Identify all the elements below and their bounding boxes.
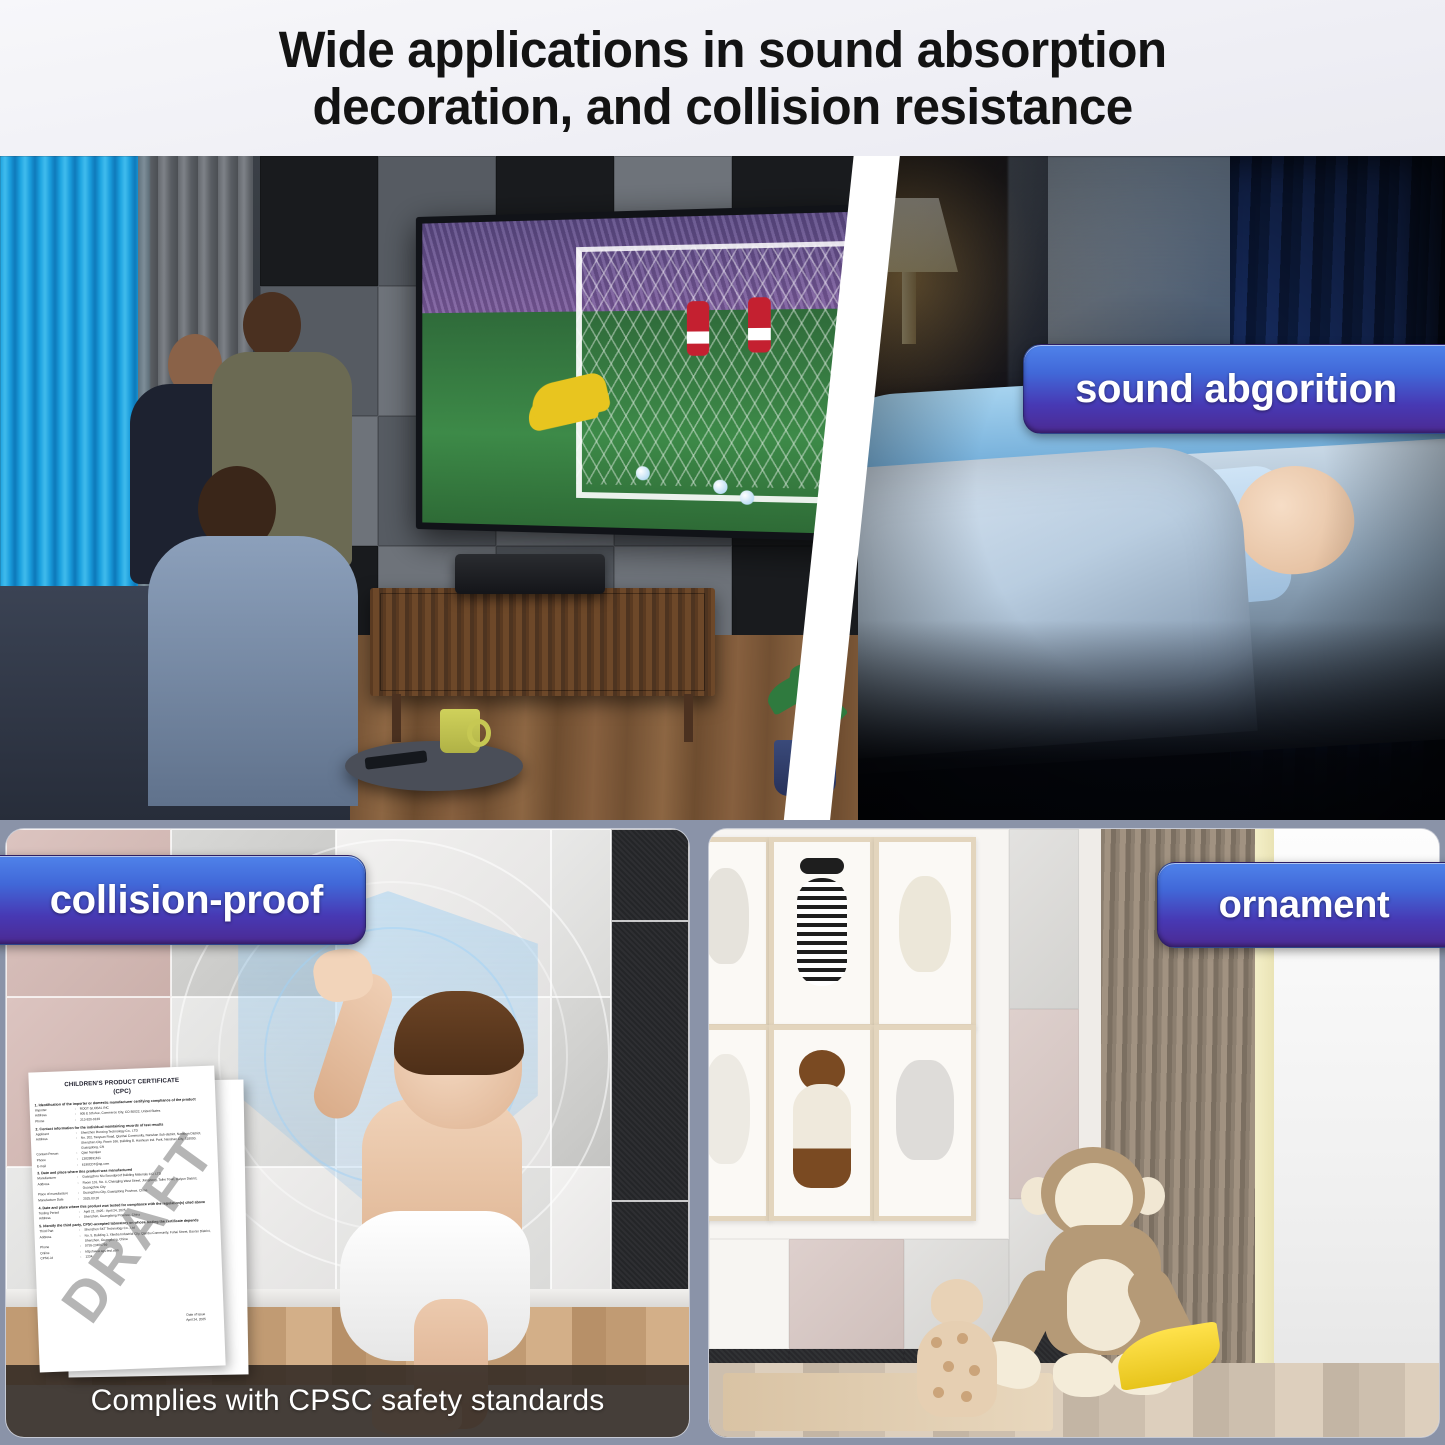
- person-head: [243, 292, 301, 358]
- poster-polar-bear: [709, 1025, 771, 1221]
- poster-raccoon: [769, 837, 875, 1029]
- certificate-title-line-2: (CPC): [113, 1088, 131, 1096]
- badge-ornament-label: ornament: [1219, 884, 1396, 927]
- toddler-hair: [394, 991, 524, 1075]
- giraffe-body: [917, 1321, 997, 1417]
- coffee-mug: [440, 709, 480, 753]
- laser-projector: [455, 554, 605, 594]
- header-banner: Wide applications in sound absorption de…: [0, 0, 1445, 156]
- tv-goalpost: [576, 241, 849, 504]
- monkey-belly: [1067, 1259, 1141, 1351]
- bottom-panel-row: CHILDREN'S PRODUCT CERTIFICATE (CPC) 1. …: [0, 820, 1445, 1445]
- plush-giraffe: [909, 1279, 1005, 1421]
- plush-monkey: [1019, 1147, 1219, 1397]
- giraffe-head: [931, 1279, 983, 1325]
- certificate-date-label: Date of Issue: [186, 1312, 205, 1317]
- headline-line-1: Wide applications in sound absorption: [279, 21, 1167, 78]
- certificate-issue-date: Date of Issue April 24, 2025: [186, 1312, 206, 1323]
- tv-player: [687, 301, 709, 356]
- tv-ball: [636, 466, 650, 480]
- badge-sound-absorption-label: sound abgorition: [1075, 367, 1403, 412]
- media-sideboard: [370, 588, 715, 696]
- vignette-overlay: [858, 156, 1445, 820]
- badge-ornament[interactable]: ornament: [1157, 862, 1445, 948]
- headline-line-2: decoration, and collision resistance: [312, 78, 1132, 135]
- poster-rabbit: [709, 837, 771, 1029]
- tv-ball: [740, 490, 754, 505]
- poster-elephant: [874, 1025, 976, 1221]
- poster-owl: [874, 837, 976, 1029]
- tv-player: [748, 297, 771, 352]
- product-infographic: Wide applications in sound absorption de…: [0, 0, 1445, 1445]
- badge-collision-proof[interactable]: collision-proof: [0, 855, 366, 945]
- panel-sound-absorption: [858, 156, 1445, 820]
- panel-living-room: [0, 156, 880, 820]
- page-title: Wide applications in sound absorption de…: [220, 21, 1224, 135]
- badge-collision-proof-label: collision-proof: [50, 878, 365, 923]
- cpsc-caption-text: Complies with CPSC safety standards: [91, 1384, 605, 1418]
- toddler: [244, 959, 574, 1419]
- cpc-certificate: CHILDREN'S PRODUCT CERTIFICATE (CPC) 1. …: [28, 1066, 225, 1373]
- top-panel-row: sound abgorition: [0, 156, 1445, 820]
- wall-mounted-tv: [416, 204, 855, 541]
- certificate-date-value: April 24, 2025: [186, 1317, 206, 1322]
- certificate-title-line-1: CHILDREN'S PRODUCT CERTIFICATE: [64, 1077, 179, 1088]
- certificate-title: CHILDREN'S PRODUCT CERTIFICATE (CPC): [35, 1075, 210, 1100]
- person-body: [148, 536, 358, 806]
- poster-brown-bear: [769, 1025, 875, 1221]
- badge-sound-absorption[interactable]: sound abgorition: [1023, 344, 1445, 434]
